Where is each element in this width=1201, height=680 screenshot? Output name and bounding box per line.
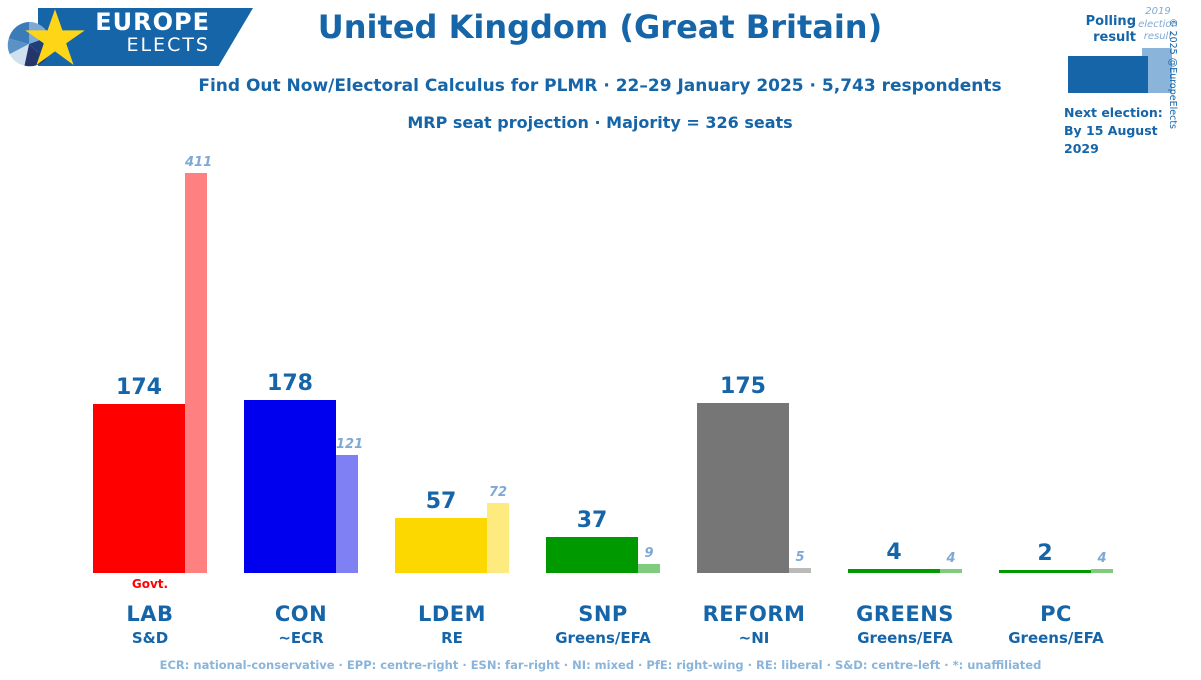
party-label-con: CON~ECR	[224, 602, 378, 647]
bar-polling-snp[interactable]	[546, 537, 638, 573]
party-label-greens: GREENSGreens/EFA	[828, 602, 982, 647]
chart-legend: Polling result 2019 election result Next…	[1050, 4, 1180, 149]
party-label-lab: LABS&D	[73, 602, 227, 647]
value-previous-pc: 4	[1091, 551, 1113, 566]
value-polling-con: 178	[244, 371, 336, 396]
political-group-legend-note: ECR: national-conservative · EPP: centre…	[0, 658, 1201, 672]
bar-polling-lab[interactable]	[93, 404, 185, 573]
party-name: LDEM	[375, 602, 529, 626]
bar-previous-pc[interactable]	[1091, 569, 1113, 573]
legend-previous-result-line1: 2019	[1145, 6, 1170, 17]
party-label-snp: SNPGreens/EFA	[526, 602, 680, 647]
bar-previous-snp[interactable]	[638, 564, 660, 573]
bar-polling-ldem[interactable]	[395, 518, 487, 573]
bar-previous-ldem[interactable]	[487, 503, 509, 573]
poll-source-subtitle: Find Out Now/Electoral Calculus for PLMR…	[180, 76, 1020, 96]
seat-projection-bar-chart: 174411Govt.LABS&D178121CON~ECR5772LDEMRE…	[0, 150, 1201, 680]
bar-polling-con[interactable]	[244, 400, 336, 573]
value-previous-reform: 5	[789, 550, 811, 565]
bar-polling-greens[interactable]	[848, 569, 940, 573]
party-name: GREENS	[828, 602, 982, 626]
value-previous-snp: 9	[638, 546, 660, 561]
party-name: PC	[979, 602, 1133, 626]
legend-swatch-polling-result	[1068, 56, 1148, 93]
party-eu-group: ~NI	[677, 629, 831, 647]
value-previous-greens: 4	[940, 551, 962, 566]
bar-polling-pc[interactable]	[999, 570, 1091, 573]
projection-subtitle: MRP seat projection · Majority = 326 sea…	[180, 113, 1020, 132]
party-name: REFORM	[677, 602, 831, 626]
legend-polling-result-line2: result	[1093, 30, 1136, 45]
star-icon	[24, 8, 86, 70]
party-eu-group: RE	[375, 629, 529, 647]
party-name: SNP	[526, 602, 680, 626]
party-eu-group: S&D	[73, 629, 227, 647]
party-label-reform: REFORM~NI	[677, 602, 831, 647]
copyright-notice: © 2025 @EuropeElects	[1167, 18, 1178, 129]
value-previous-ldem: 72	[487, 485, 509, 500]
bar-previous-reform[interactable]	[789, 568, 811, 573]
party-label-ldem: LDEMRE	[375, 602, 529, 647]
legend-polling-result-label: Polling result	[1050, 14, 1136, 47]
bar-previous-con[interactable]	[336, 455, 358, 573]
party-eu-group: Greens/EFA	[979, 629, 1133, 647]
party-name: CON	[224, 602, 378, 626]
party-name: LAB	[73, 602, 227, 626]
value-polling-lab: 174	[93, 375, 185, 400]
value-polling-pc: 2	[999, 541, 1091, 566]
value-polling-reform: 175	[697, 374, 789, 399]
value-previous-lab: 411	[185, 155, 207, 170]
bar-previous-greens[interactable]	[940, 569, 962, 573]
party-eu-group: Greens/EFA	[828, 629, 982, 647]
value-polling-snp: 37	[546, 508, 638, 533]
government-badge: Govt.	[93, 577, 207, 591]
party-eu-group: Greens/EFA	[526, 629, 680, 647]
value-polling-ldem: 57	[395, 489, 487, 514]
party-label-pc: PCGreens/EFA	[979, 602, 1133, 647]
next-election-label: Next election:	[1064, 105, 1163, 120]
bar-polling-reform[interactable]	[697, 403, 789, 573]
legend-polling-result-line1: Polling	[1086, 14, 1136, 29]
value-previous-con: 121	[336, 437, 358, 452]
page-title: United Kingdom (Great Britain)	[180, 8, 1020, 46]
value-polling-greens: 4	[848, 540, 940, 565]
bar-previous-lab[interactable]	[185, 173, 207, 573]
party-eu-group: ~ECR	[224, 629, 378, 647]
